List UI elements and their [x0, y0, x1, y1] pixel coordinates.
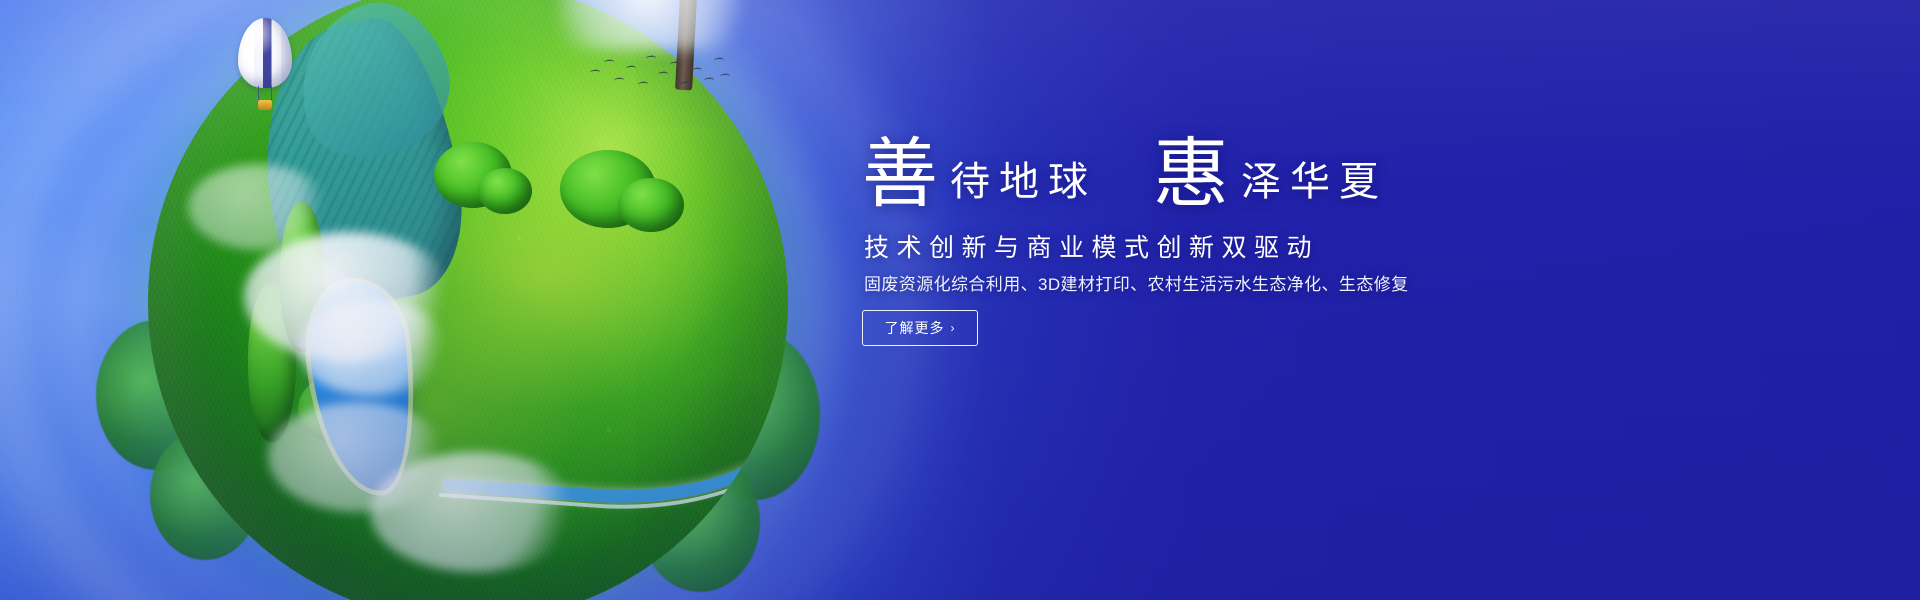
- headline-group-2: 惠 泽华夏: [1153, 140, 1388, 211]
- headline-group-1: 善 待地球: [862, 140, 1097, 211]
- chevron-right-icon: ›: [951, 321, 956, 335]
- banner-description: 固废资源化综合利用、3D建材打印、农村生活污水生态净化、生态修复: [864, 270, 1409, 295]
- headline-small-1: 待地球: [940, 162, 1097, 211]
- hero-banner: 善 待地球 惠 泽华夏 技术创新与商业模式创新双驱动 固废资源化综合利用、3D建…: [0, 0, 1920, 600]
- headline: 善 待地球 惠 泽华夏: [862, 140, 1388, 211]
- learn-more-button[interactable]: 了解更多 ›: [862, 310, 978, 346]
- learn-more-label: 了解更多: [885, 318, 945, 338]
- banner-content: 善 待地球 惠 泽华夏 技术创新与商业模式创新双驱动 固废资源化综合利用、3D建…: [862, 0, 1762, 600]
- banner-subtitle: 技术创新与商业模式创新双驱动: [864, 228, 1319, 264]
- headline-big-1: 善: [862, 140, 940, 211]
- headline-big-2: 惠: [1153, 140, 1231, 211]
- headline-small-2: 泽华夏: [1231, 162, 1388, 211]
